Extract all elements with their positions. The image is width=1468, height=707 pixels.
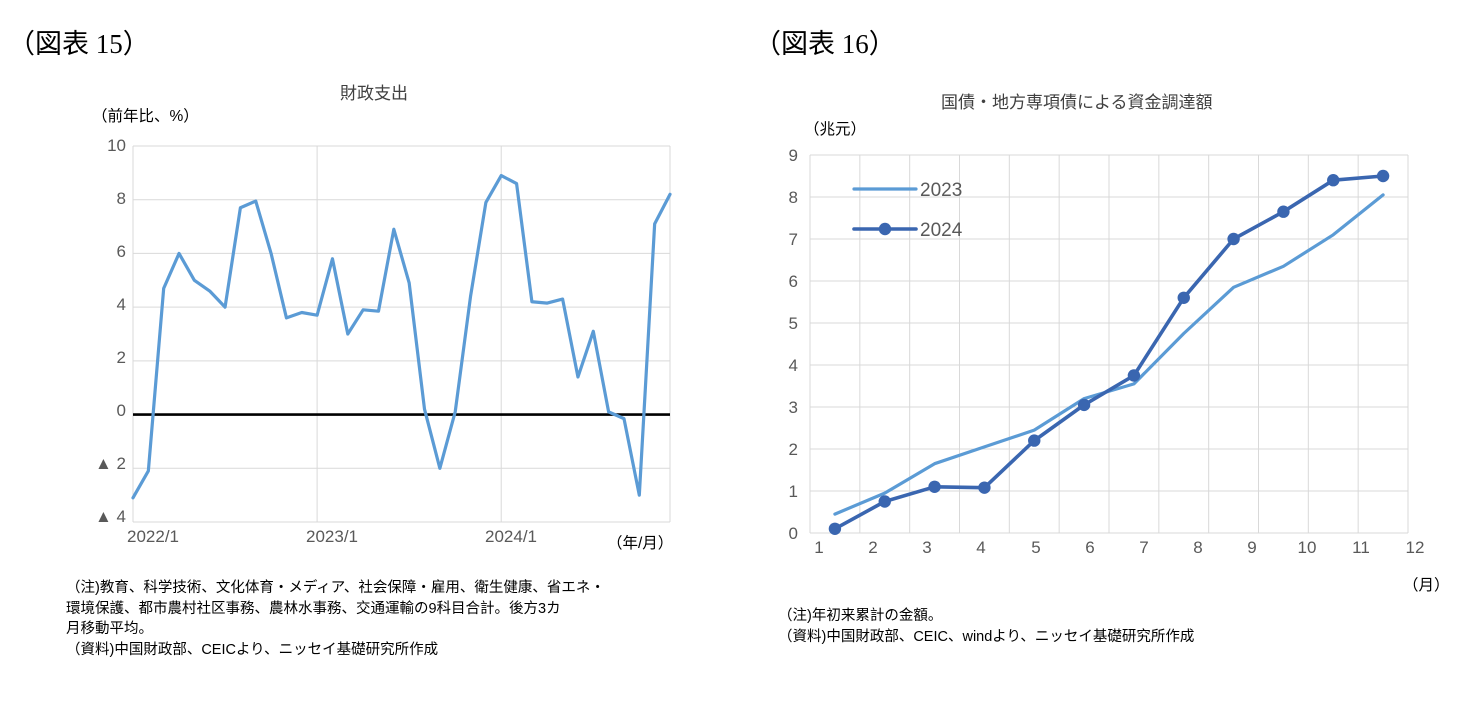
y-tick-minus-2: ▲ 2	[70, 454, 126, 474]
figure-15-label: （図表 15）	[8, 22, 150, 61]
figure-15-notes: （注)教育、科学技術、文化体育・メディア、社会保障・雇用、衛生健康、省エネ・ 環…	[66, 578, 716, 660]
x-tick-month-3: 3	[902, 538, 952, 558]
x-tick-month-10: 10	[1282, 538, 1332, 558]
y-tick-9: 9	[772, 146, 798, 166]
legend: 20232024	[854, 180, 963, 241]
data-point-2024-9	[1227, 233, 1239, 245]
bond-funding-plot: 20232024	[810, 155, 1408, 533]
series-line-fiscal-expenditure	[133, 176, 670, 498]
figure-15-panel: （図表 15） 財政支出 （前年比、%） 10 8 6 4 2 0 ▲ 2 ▲ …	[0, 0, 734, 707]
y-axis-unit-label-right: （兆元）	[804, 117, 866, 139]
x-tick-month-9: 9	[1227, 538, 1277, 558]
y-tick-1: 1	[772, 482, 798, 502]
data-point-2024-2	[879, 495, 891, 507]
data-point-2024-1	[829, 523, 841, 535]
x-tick-month-5: 5	[1011, 538, 1061, 558]
x-axis-unit-label: （年/月）	[607, 531, 673, 553]
y-tick-8: 8	[772, 188, 798, 208]
chart-title-bond-funding: 国債・地方専項債による資金調達額	[941, 88, 1213, 113]
x-tick-month-4: 4	[956, 538, 1006, 558]
chart-title-fiscal-expenditure: 財政支出	[340, 79, 408, 104]
y-tick-6: 6	[772, 272, 798, 292]
y-tick-8: 8	[78, 189, 126, 209]
x-tick-2024-1: 2024/1	[451, 527, 571, 547]
data-point-2024-4	[978, 481, 990, 493]
x-tick-month-6: 6	[1065, 538, 1115, 558]
legend-label-2023: 2023	[920, 180, 962, 201]
y-tick-0: 0	[78, 401, 126, 421]
data-point-2024-6	[1078, 399, 1090, 411]
data-point-2024-10	[1277, 206, 1289, 218]
x-tick-month-1: 1	[794, 538, 844, 558]
y-tick-7: 7	[772, 230, 798, 250]
figure-16-notes: （注)年初来累計の金額。 （資料)中国財政部、CEIC、windより、ニッセイ基…	[778, 606, 1438, 647]
y-tick-2: 2	[78, 348, 126, 368]
y-tick-10: 10	[78, 136, 126, 156]
legend-marker-2024	[879, 223, 891, 235]
data-point-2024-12	[1377, 170, 1389, 182]
x-tick-month-8: 8	[1173, 538, 1223, 558]
x-tick-month-11: 11	[1336, 538, 1386, 558]
data-point-2024-8	[1178, 292, 1190, 304]
y-tick-4: 4	[772, 356, 798, 376]
x-tick-2023-1: 2023/1	[272, 527, 392, 547]
data-point-2024-7	[1128, 369, 1140, 381]
figure-16-panel: （図表 16） 国債・地方専項債による資金調達額 （兆元） 9 8 7 6 5 …	[734, 0, 1468, 707]
fiscal-expenditure-plot	[133, 146, 670, 522]
figure-16-label: （図表 16）	[754, 22, 896, 61]
y-tick-4: 4	[78, 295, 126, 315]
y-tick-2: 2	[772, 440, 798, 460]
y-tick-5: 5	[772, 314, 798, 334]
y-tick-minus-4: ▲ 4	[70, 507, 126, 527]
x-axis-unit-label-right: （月）	[1403, 573, 1450, 595]
x-tick-month-12: 12	[1390, 538, 1440, 558]
x-tick-month-7: 7	[1119, 538, 1169, 558]
y-tick-3: 3	[772, 398, 798, 418]
x-tick-2022-1: 2022/1	[93, 527, 213, 547]
legend-label-2024: 2024	[920, 220, 963, 241]
y-tick-6: 6	[78, 242, 126, 262]
y-axis-unit-label: （前年比、%）	[92, 104, 199, 126]
data-point-2024-3	[928, 481, 940, 493]
data-point-2024-11	[1327, 174, 1339, 186]
x-tick-month-2: 2	[848, 538, 898, 558]
data-point-2024-5	[1028, 434, 1040, 446]
